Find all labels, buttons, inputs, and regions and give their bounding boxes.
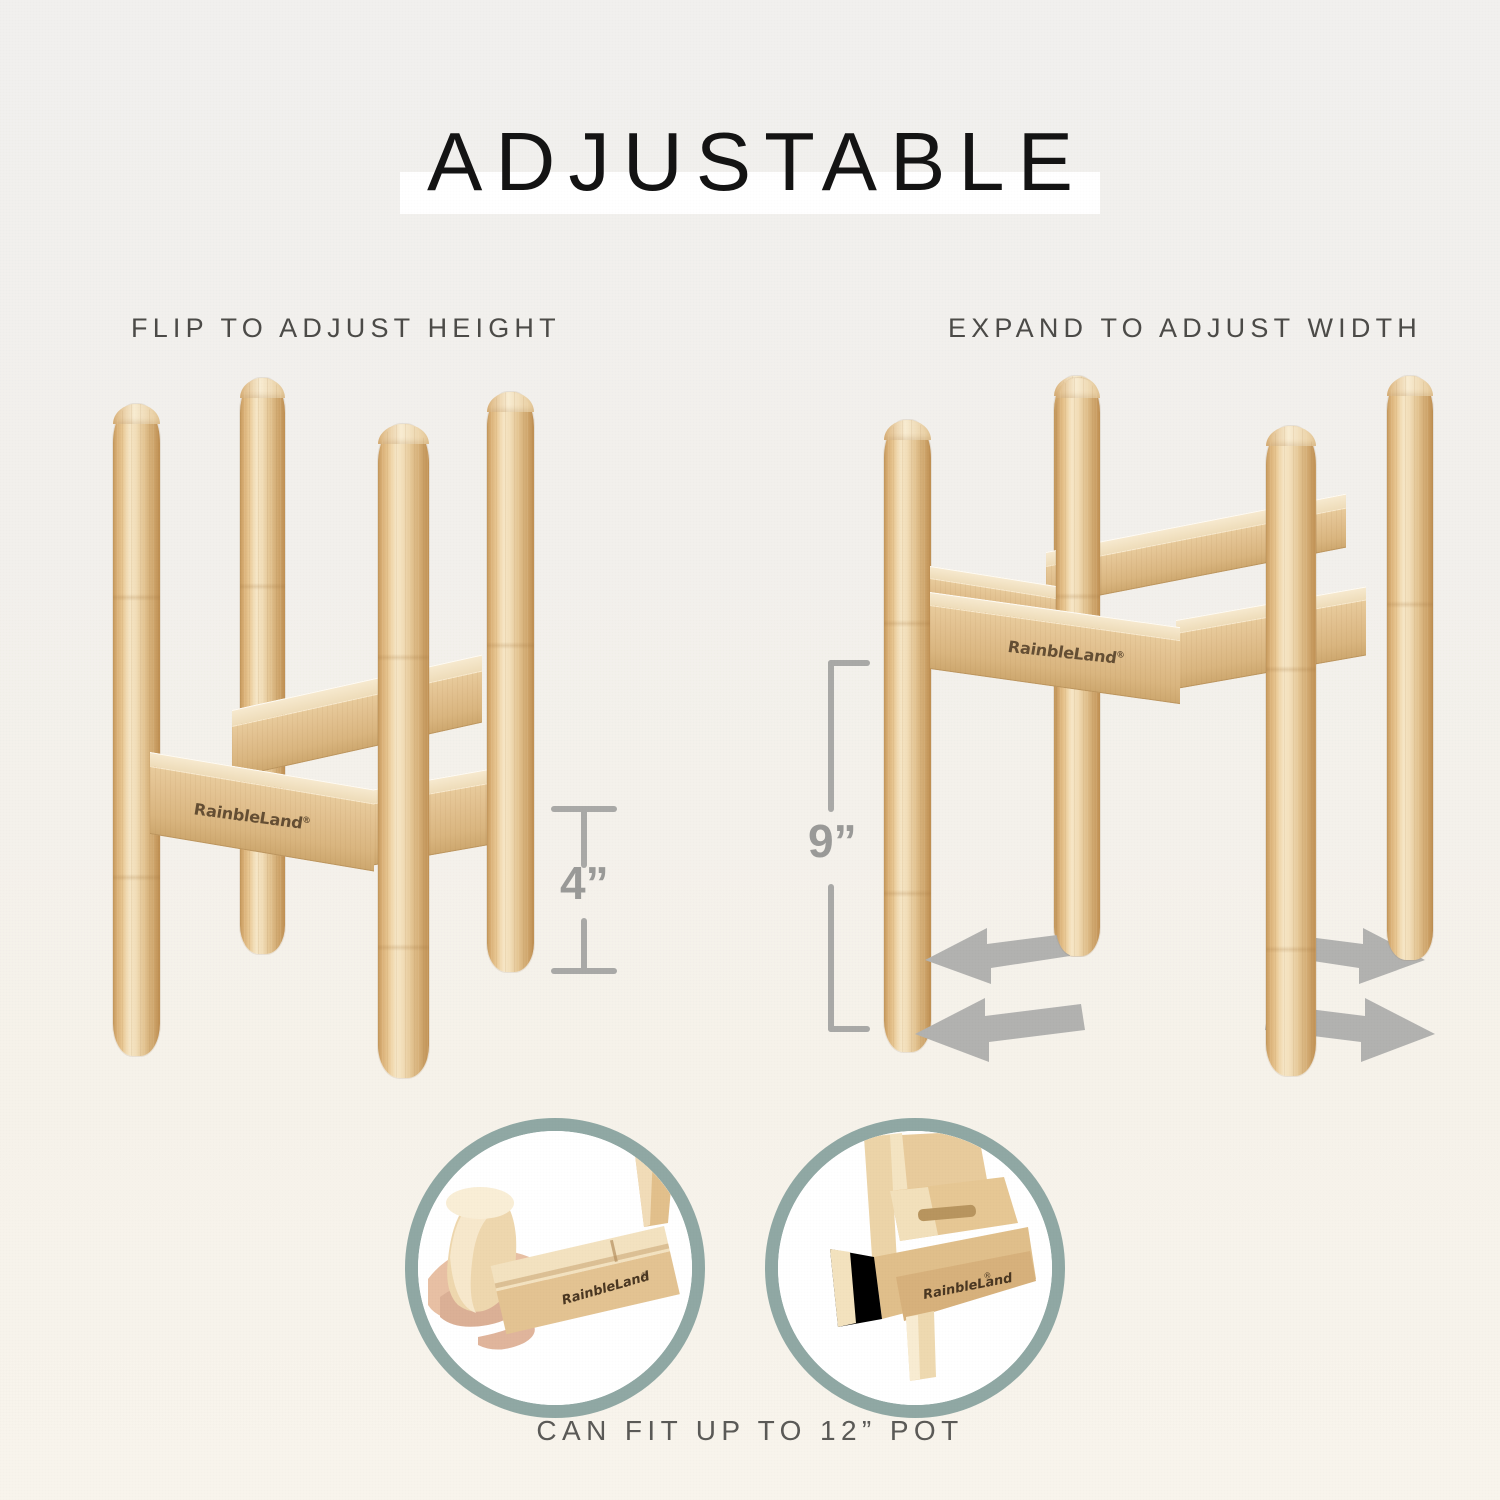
bamboo-node — [1056, 593, 1100, 600]
leg-cap-icon — [1266, 426, 1316, 446]
stand-rail-front: RainbleLand® — [150, 752, 374, 885]
bamboo-node — [113, 874, 160, 881]
expand-arrows-group — [915, 912, 1435, 1072]
dimension-bracket-top-arm — [828, 660, 870, 666]
leg-cap-icon — [113, 404, 160, 424]
heading-expand-to-adjust-width: EXPAND TO ADJUST WIDTH — [948, 313, 1422, 344]
bamboo-node — [378, 654, 429, 661]
inset-photo-content: RainbleLand ® — [778, 1131, 1052, 1405]
bamboo-node — [1266, 946, 1316, 953]
bamboo-node — [113, 594, 160, 601]
leg-cap-icon — [884, 420, 931, 440]
bamboo-node — [240, 583, 285, 590]
dimension-label-4in: 4” — [560, 860, 609, 906]
infographic-canvas: ADJUSTABLE FLIP TO ADJUST HEIGHT EXPAND … — [0, 0, 1500, 1500]
dimension-bracket-top-stem — [828, 660, 834, 812]
stand-leg-front-left — [378, 424, 429, 1078]
leg-cap-icon — [240, 378, 285, 398]
dimension-label-9in: 9” — [808, 818, 857, 864]
bottom-caption: CAN FIT UP TO 12” POT — [0, 1415, 1500, 1447]
bamboo-node — [1387, 601, 1433, 608]
stand-leg-front-right — [1266, 426, 1316, 1076]
title-text: ADJUSTABLE — [414, 112, 1086, 212]
inset-photo-rail-slot-mechanism: RainbleLand ® — [765, 1118, 1065, 1418]
inset-photo-hand-holding-rail: RainbleLand ® — [405, 1118, 705, 1418]
arrow-left-inner — [925, 928, 1070, 984]
dimension-bracket-bottom-stem — [828, 884, 834, 1032]
stand-leg-front-right — [487, 392, 534, 972]
leg-cap-icon — [378, 424, 429, 444]
bamboo-node — [884, 890, 931, 897]
bamboo-node — [378, 944, 429, 951]
dimension-bracket-bottom-arm — [551, 968, 617, 974]
leg-cap-icon — [487, 392, 534, 412]
bamboo-node — [487, 642, 534, 649]
svg-text:®: ® — [983, 1271, 993, 1281]
heading-flip-to-adjust-height: FLIP TO ADJUST HEIGHT — [131, 313, 561, 344]
dimension-bracket-bottom-arm — [828, 1026, 870, 1032]
stand-rail-front: RainbleLand® — [930, 592, 1180, 713]
bamboo-node — [1266, 666, 1316, 673]
page-title: ADJUSTABLE — [0, 112, 1500, 222]
dimension-bracket-bottom-stem — [581, 918, 587, 974]
stand-leg-far-right — [1387, 376, 1433, 960]
stand-leg-back-left — [113, 404, 160, 1056]
inset-photo-content: RainbleLand ® — [418, 1131, 692, 1405]
leg-cap-icon — [1387, 376, 1433, 396]
arrow-left-outer — [915, 998, 1085, 1062]
bamboo-node — [884, 620, 931, 627]
